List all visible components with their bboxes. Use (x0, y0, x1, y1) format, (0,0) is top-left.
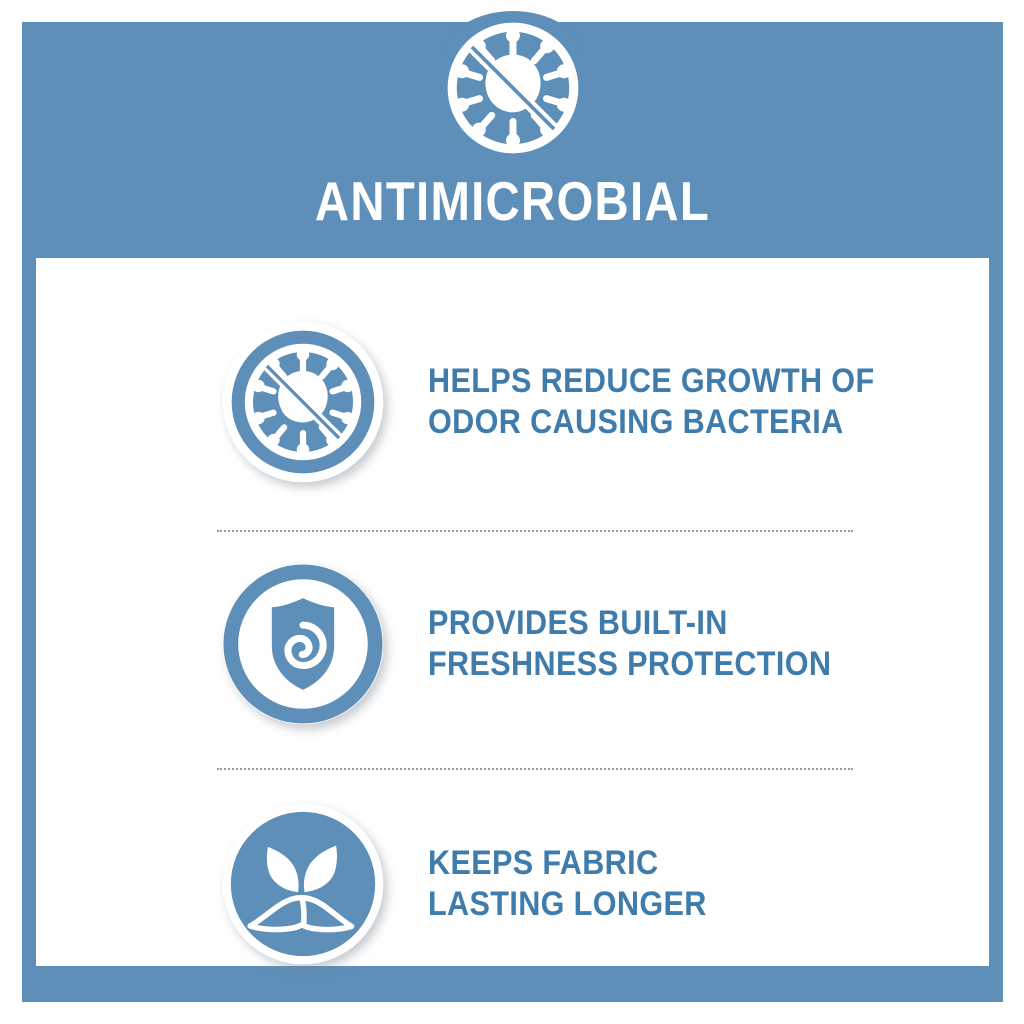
feature-list: HELPS REDUCE GROWTH OF ODOR CAUSING BACT… (36, 258, 989, 966)
leaf-sprout-icon (214, 795, 392, 973)
list-item-line-1: KEEPS FABRIC (428, 843, 707, 884)
list-item-line-2: ODOR CAUSING BACTERIA (428, 402, 875, 443)
list-item-label: KEEPS FABRIC LASTING LONGER (428, 843, 707, 925)
shield-swirl-icon (214, 555, 392, 733)
no-germ-icon (437, 12, 589, 164)
blue-panel: ANTIMICROBIAL (22, 22, 1003, 1002)
list-item-line-2: LASTING LONGER (428, 884, 707, 925)
list-item-line-1: PROVIDES BUILT-IN (428, 603, 831, 644)
row-divider (217, 530, 853, 532)
content-panel: HELPS REDUCE GROWTH OF ODOR CAUSING BACT… (36, 258, 989, 966)
list-item-label: HELPS REDUCE GROWTH OF ODOR CAUSING BACT… (428, 361, 875, 443)
infographic-page: ANTIMICROBIAL (0, 0, 1024, 1024)
list-item: PROVIDES BUILT-IN FRESHNESS PROTECTION (36, 548, 989, 740)
list-item: HELPS REDUCE GROWTH OF ODOR CAUSING BACT… (36, 306, 989, 498)
row-divider (217, 768, 853, 770)
no-germ-icon (214, 313, 392, 491)
list-item: KEEPS FABRIC LASTING LONGER (36, 788, 989, 980)
page-title: ANTIMICROBIAL (91, 170, 935, 232)
list-item-line-2: FRESHNESS PROTECTION (428, 644, 831, 685)
list-item-line-1: HELPS REDUCE GROWTH OF (428, 361, 875, 402)
list-item-label: PROVIDES BUILT-IN FRESHNESS PROTECTION (428, 603, 831, 685)
